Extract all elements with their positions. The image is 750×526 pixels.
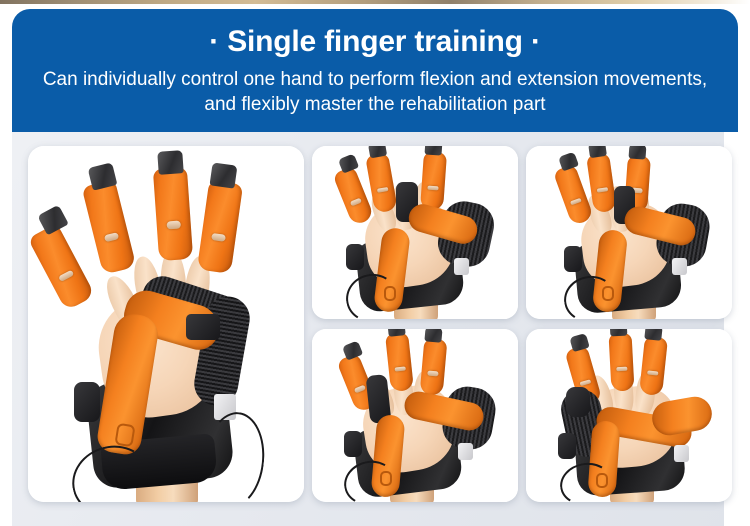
page-title: · Single finger training · [12,25,738,59]
gallery-card-4[interactable] [312,329,518,502]
top-image-sliver [0,0,750,4]
header-banner: · Single finger training · Can individua… [12,9,738,132]
gallery-grid [28,146,724,502]
gallery-card-3[interactable] [526,146,732,319]
gallery-card-5[interactable] [526,329,732,502]
glove-photo-2 [312,146,518,319]
glove-photo-main [28,146,304,502]
glove-photo-3 [526,146,732,319]
glove-photo-5 [526,329,732,502]
gallery-card-2[interactable] [312,146,518,319]
gallery-card-main[interactable] [28,146,304,502]
glove-photo-4 [312,329,518,502]
page-subtitle: Can individually control one hand to per… [12,67,738,117]
